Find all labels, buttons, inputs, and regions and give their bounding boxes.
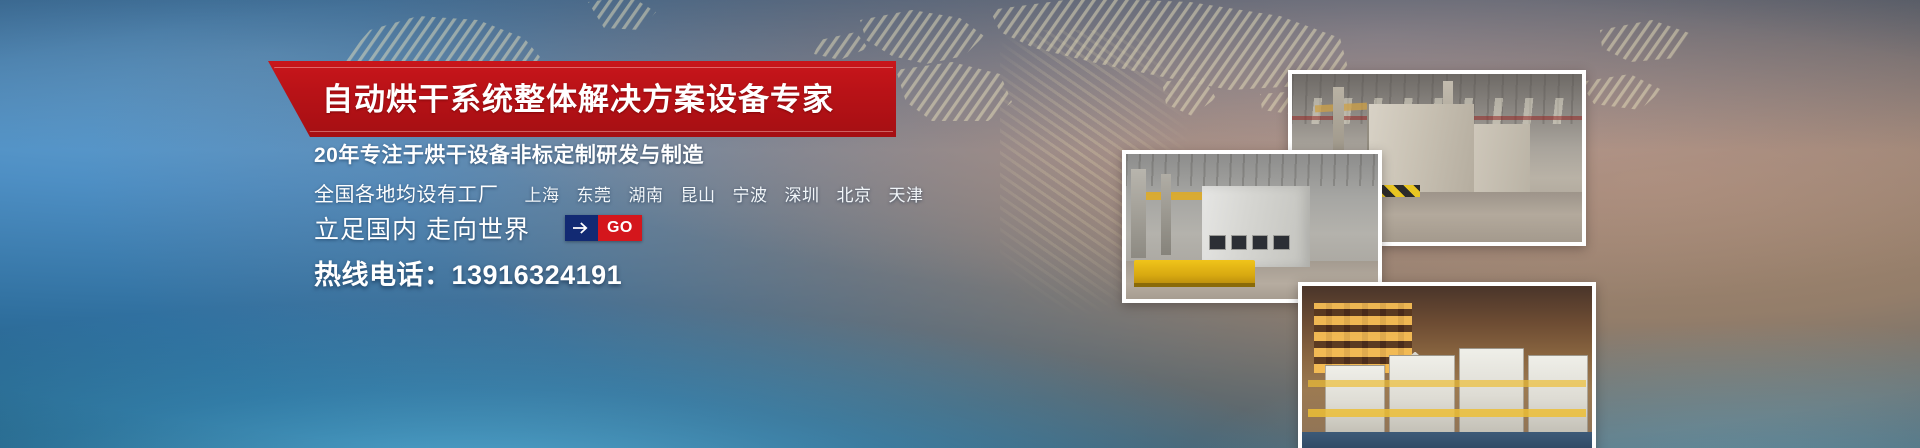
background-vignette (0, 0, 1920, 448)
promo-banner: 自动烘干系统整体解决方案设备专家 20年专注于烘干设备非标定制研发与制造 全国各… (0, 0, 1920, 448)
